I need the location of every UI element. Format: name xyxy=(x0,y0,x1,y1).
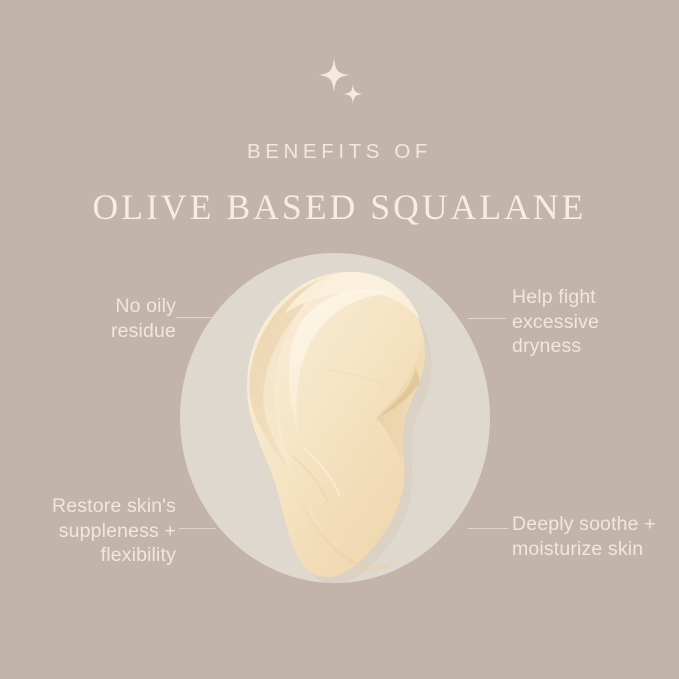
benefit-label-line: Restore skin's xyxy=(6,494,176,519)
connector-line-help-fight-dryness xyxy=(468,318,506,319)
benefit-label-line: excessive xyxy=(512,310,662,335)
sparkle-large-icon xyxy=(318,58,350,92)
benefit-label-line: residue xyxy=(28,319,176,344)
benefit-label-no-oily-residue: No oily residue xyxy=(28,294,176,343)
benefit-label-line: moisturize skin xyxy=(512,537,672,562)
cream-swatch-image xyxy=(180,250,500,590)
benefit-label-line: flexibility xyxy=(6,543,176,568)
benefit-label-restore-skins-suppleness-flexibility: Restore skin's suppleness + flexibility xyxy=(6,494,176,568)
eyebrow-text: BENEFITS OF xyxy=(0,140,679,164)
benefit-label-deeply-soothe-moisturize-skin: Deeply soothe + moisturize skin xyxy=(512,512,672,561)
page-title: OLIVE BASED SQUALANE xyxy=(0,186,679,228)
sparkle-decoration xyxy=(311,56,375,116)
sparkle-small-icon xyxy=(343,84,363,104)
connector-line-no-oily-residue xyxy=(176,317,212,318)
connector-line-deeply-soothe xyxy=(468,528,508,529)
benefit-label-line: Deeply soothe + xyxy=(512,512,672,537)
connector-line-restore-suppleness xyxy=(179,528,216,529)
benefit-label-line: dryness xyxy=(512,334,662,359)
benefit-label-line: suppleness + xyxy=(6,519,176,544)
benefit-label-line: No oily xyxy=(28,294,176,319)
benefits-infographic: BENEFITS OF OLIVE BASED SQUALANE xyxy=(0,0,679,679)
benefit-label-line: Help fight xyxy=(512,285,662,310)
benefit-label-help-fight-excessive-dryness: Help fight excessive dryness xyxy=(512,285,662,359)
